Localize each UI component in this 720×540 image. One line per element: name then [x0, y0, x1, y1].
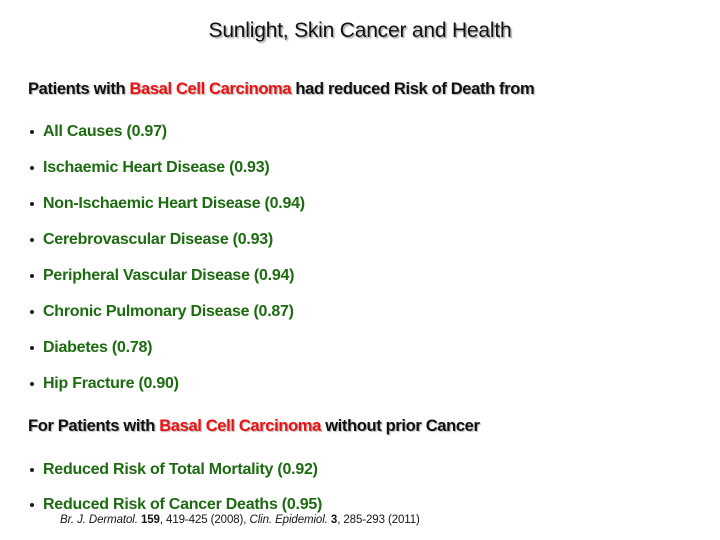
- list-item-label: Chronic Pulmonary Disease (0.87): [43, 303, 294, 320]
- list-item-label: Hip Fracture (0.90): [43, 375, 179, 392]
- section-heading-two: For Patients with Basal Cell Carcinoma w…: [28, 417, 480, 436]
- list-item-label: Reduced Risk of Total Mortality (0.92): [43, 461, 318, 478]
- heading-two-text-before: For Patients with: [28, 417, 159, 435]
- citation-pages-one: , 419-425 (2008),: [160, 514, 250, 526]
- heading-two-highlight: Basal Cell Carcinoma: [159, 417, 321, 435]
- list-item-label: Non-Ischaemic Heart Disease (0.94): [43, 195, 305, 212]
- citation-volume-one: 159: [141, 514, 160, 526]
- list-item-label: Peripheral Vascular Disease (0.94): [43, 267, 294, 284]
- list-item: Peripheral Vascular Disease (0.94): [28, 258, 305, 294]
- citation-journal-two: Clin. Epidemiol.: [249, 514, 327, 526]
- heading-two-text-after: without prior Cancer: [321, 417, 480, 435]
- list-item-label: Diabetes (0.78): [43, 339, 152, 356]
- list-item: Ischaemic Heart Disease (0.93): [28, 150, 305, 186]
- section-heading-one: Patients with Basal Cell Carcinoma had r…: [28, 80, 534, 99]
- citation-pages-two: , 285-293 (2011): [337, 514, 420, 526]
- page-title: Sunlight, Skin Cancer and Health: [0, 19, 720, 43]
- citation-journal-one: Br. J. Dermatol.: [60, 514, 138, 526]
- list-item-label: Ischaemic Heart Disease (0.93): [43, 159, 269, 176]
- heading-one-text-before: Patients with: [28, 80, 129, 98]
- list-item: Non-Ischaemic Heart Disease (0.94): [28, 186, 305, 222]
- heading-one-text-after: had reduced Risk of Death from: [291, 80, 534, 98]
- list-item: Hip Fracture (0.90): [28, 366, 305, 402]
- citation-footnote: Br. J. Dermatol. 159, 419-425 (2008), Cl…: [60, 514, 420, 526]
- list-item-label: Reduced Risk of Cancer Deaths (0.95): [43, 496, 322, 513]
- list-item-label: Cerebrovascular Disease (0.93): [43, 231, 273, 248]
- list-item: All Causes (0.97): [28, 114, 305, 150]
- list-item: Reduced Risk of Total Mortality (0.92): [28, 452, 322, 487]
- list-item-label: All Causes (0.97): [43, 123, 167, 140]
- list-item: Chronic Pulmonary Disease (0.87): [28, 294, 305, 330]
- heading-one-highlight: Basal Cell Carcinoma: [129, 80, 291, 98]
- list-item: Diabetes (0.78): [28, 330, 305, 366]
- bullet-list-causes: All Causes (0.97) Ischaemic Heart Diseas…: [28, 114, 305, 402]
- list-item: Cerebrovascular Disease (0.93): [28, 222, 305, 258]
- bullet-list-mortality: Reduced Risk of Total Mortality (0.92) R…: [28, 452, 322, 522]
- slide-canvas: Sunlight, Skin Cancer and Health Patient…: [0, 0, 720, 540]
